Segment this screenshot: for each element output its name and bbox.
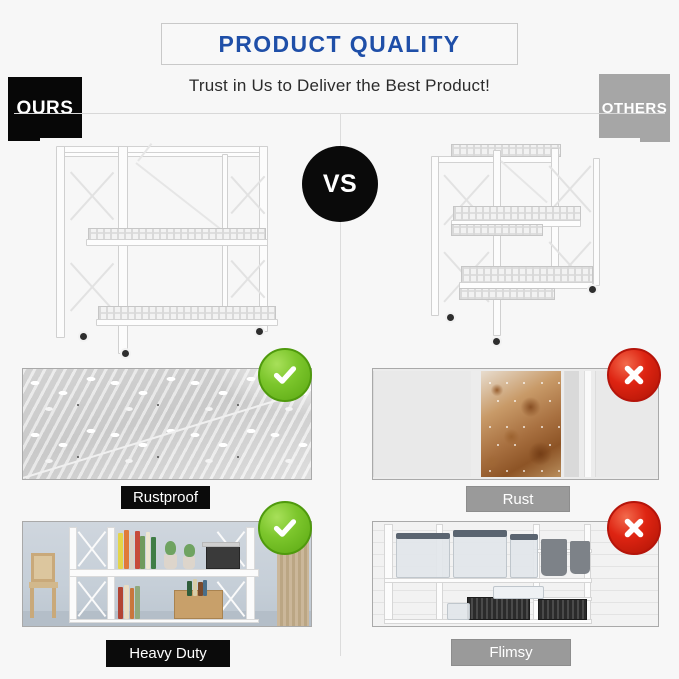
storage-bin xyxy=(510,538,539,579)
clean-pane-left xyxy=(373,371,471,477)
ours-rustproof-caption: Rustproof xyxy=(121,486,210,509)
bucket xyxy=(541,539,567,576)
bucket xyxy=(570,541,590,574)
lid-panel xyxy=(493,586,544,598)
black-crate xyxy=(538,599,586,620)
column-tag-ours-label: OURS xyxy=(17,98,74,120)
vs-badge-label: VS xyxy=(323,170,357,199)
divider-pane-b xyxy=(584,371,591,477)
column-tag-ours: OURS xyxy=(8,77,82,141)
others-hero-image xyxy=(415,138,640,363)
divider-pane-a xyxy=(564,371,579,477)
sagging-shelf-beam xyxy=(384,578,592,583)
x-badge xyxy=(607,348,661,402)
storage-bin xyxy=(396,537,450,579)
ours-hero-image xyxy=(40,138,305,363)
storage-bin xyxy=(453,534,507,578)
rust-corrosion-texture xyxy=(481,371,561,477)
vs-badge: VS xyxy=(302,146,378,222)
x-badge xyxy=(607,501,661,555)
loaded-white-shelf xyxy=(69,527,259,623)
caption-label: Heavy Duty xyxy=(129,645,207,662)
black-crate xyxy=(467,597,530,620)
column-tag-others: OTHERS xyxy=(599,74,670,142)
small-container xyxy=(447,603,470,620)
check-badge xyxy=(258,348,312,402)
caption-label: Rustproof xyxy=(133,489,198,506)
caption-label: Flimsy xyxy=(489,644,532,661)
wooden-chair xyxy=(29,553,58,617)
ours-heavy-duty-caption: Heavy Duty xyxy=(106,640,230,667)
check-badge xyxy=(258,501,312,555)
page-title-box: PRODUCT QUALITY xyxy=(161,23,518,65)
rust-perforations xyxy=(481,371,561,477)
product-quality-infographic: PRODUCT QUALITY Trust in Us to Deliver t… xyxy=(0,0,679,679)
page-subtitle: Trust in Us to Deliver the Best Product! xyxy=(0,76,679,96)
caption-label: Rust xyxy=(503,491,534,508)
page-title: PRODUCT QUALITY xyxy=(218,31,460,58)
others-rust-caption: Rust xyxy=(466,486,570,512)
others-flimsy-caption: Flimsy xyxy=(451,639,571,666)
